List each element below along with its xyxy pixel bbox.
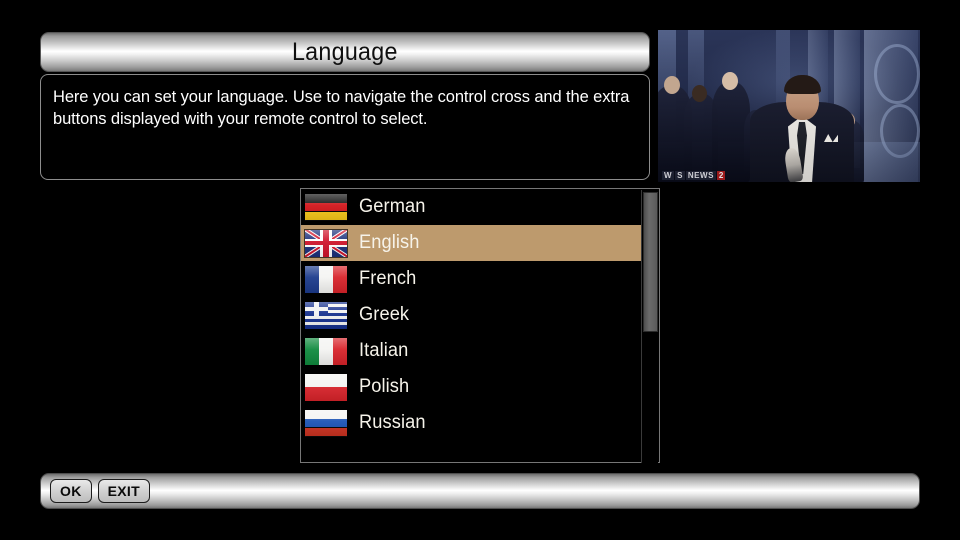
video-preview[interactable]: W S NEWS 2: [658, 30, 920, 182]
bottom-action-bar: OK EXIT: [40, 473, 920, 509]
watermark-part-3: NEWS: [686, 171, 716, 180]
list-item-label: Polish: [359, 376, 409, 398]
list-item-label: Italian: [359, 340, 408, 362]
list-item-english[interactable]: English: [301, 225, 643, 261]
flag-united-kingdom-icon: [304, 229, 348, 258]
list-item-label: Greek: [359, 304, 409, 326]
list-item-label: Russian: [359, 412, 426, 434]
list-item-greek[interactable]: Greek: [301, 297, 643, 333]
watermark-part-4: 2: [717, 171, 725, 180]
language-list: German English: [301, 189, 643, 441]
flag-greece-icon: [304, 301, 348, 330]
description-panel: Here you can set your language. Use to n…: [40, 74, 650, 180]
flag-italy-icon: [304, 337, 348, 366]
flag-russia-icon: [304, 409, 348, 438]
list-item-label: German: [359, 196, 425, 218]
description-text: Here you can set your language. Use to n…: [53, 86, 637, 131]
video-reporter: [750, 74, 854, 182]
list-item-polish[interactable]: Polish: [301, 369, 643, 405]
language-list-panel: German English: [300, 188, 660, 463]
watermark-part-1: W: [662, 171, 674, 180]
ok-button[interactable]: OK: [50, 479, 92, 503]
flag-poland-icon: [304, 373, 348, 402]
list-scrollbar-track[interactable]: [641, 190, 658, 463]
exit-button-label: EXIT: [108, 483, 140, 499]
page-title: Language: [292, 40, 398, 65]
exit-button[interactable]: EXIT: [98, 479, 150, 503]
list-item-label: French: [359, 268, 416, 290]
broadcaster-watermark: W S NEWS 2: [662, 171, 725, 180]
list-item-german[interactable]: German: [301, 189, 643, 225]
list-item-french[interactable]: French: [301, 261, 643, 297]
list-item-italian[interactable]: Italian: [301, 333, 643, 369]
flag-france-icon: [304, 265, 348, 294]
ok-button-label: OK: [60, 483, 82, 499]
video-frame: W S NEWS 2: [658, 30, 920, 182]
list-scrollbar-thumb[interactable]: [643, 192, 658, 332]
title-bar: Language: [40, 32, 650, 72]
watermark-part-2: S: [675, 171, 685, 180]
list-item-label: English: [359, 232, 420, 254]
list-item-russian[interactable]: Russian: [301, 405, 643, 441]
osd-screen: Language Here you can set your language.…: [0, 0, 960, 540]
flag-germany-icon: [304, 193, 348, 222]
